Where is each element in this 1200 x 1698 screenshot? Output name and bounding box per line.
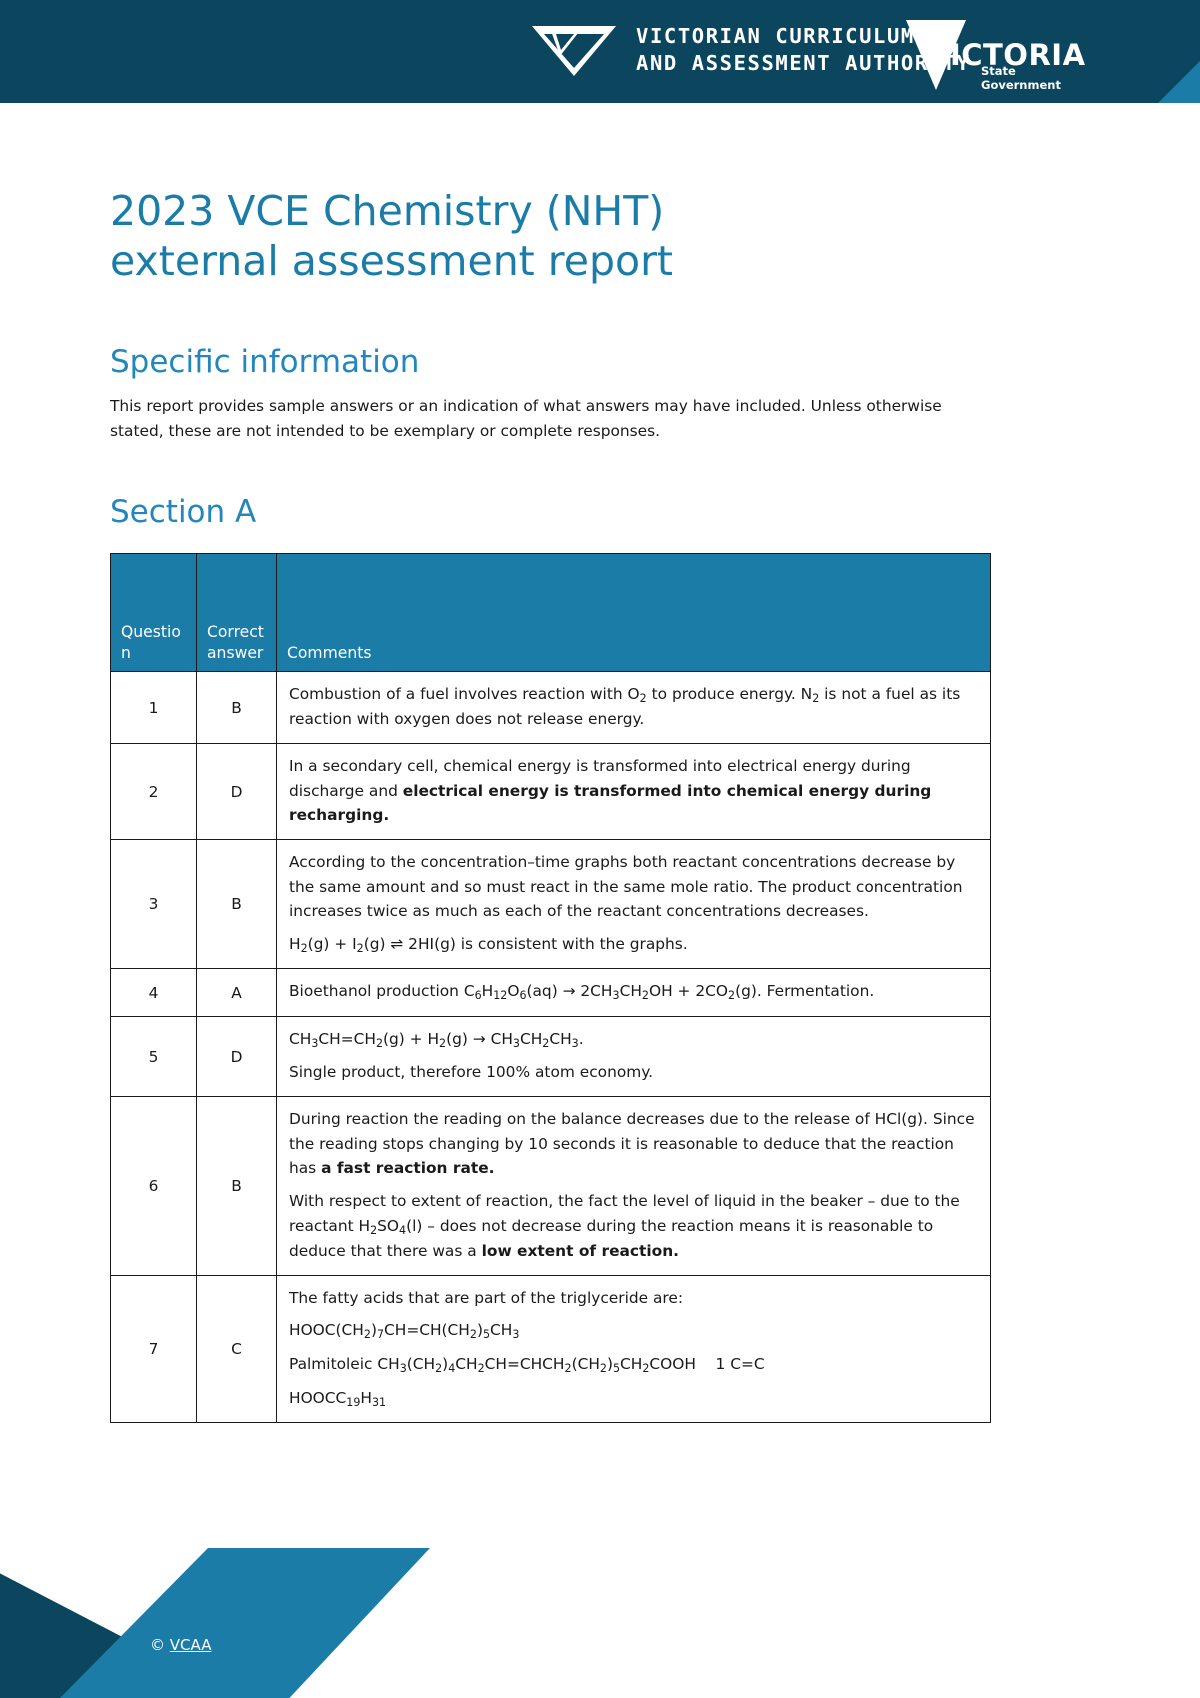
comment-paragraph: During reaction the reading on the balan…	[289, 1107, 978, 1181]
vcaa-chevron-icon	[530, 22, 618, 78]
comment-paragraph: Combustion of a fuel involves reaction w…	[289, 682, 978, 732]
table-row: 3BAccording to the concentration–time gr…	[111, 840, 991, 969]
cell-correct-answer: A	[197, 969, 277, 1017]
cell-comments: The fatty acids that are part of the tri…	[277, 1275, 991, 1422]
cell-comments: In a secondary cell, chemical energy is …	[277, 744, 991, 840]
state-government-line2: Government	[981, 78, 1061, 92]
cell-correct-answer: D	[197, 744, 277, 840]
comment-paragraph: Single product, therefore 100% atom econ…	[289, 1060, 978, 1085]
comment-paragraph: According to the concentration–time grap…	[289, 850, 978, 924]
footer-copyright: © VCAA	[150, 1636, 211, 1654]
page-title-line2: external assessment report	[110, 237, 673, 285]
page-footer: © VCAA	[0, 1520, 1200, 1698]
cell-correct-answer: C	[197, 1275, 277, 1422]
section-a-answers-table: Question Correct answer Comments 1BCombu…	[110, 553, 991, 1423]
cell-correct-answer: B	[197, 840, 277, 969]
table-body: 1BCombustion of a fuel involves reaction…	[111, 671, 991, 1422]
comment-paragraph: HOOC(CH2)7CH=CH(CH2)5CH3	[289, 1318, 978, 1344]
page-title-line1: 2023 VCE Chemistry (NHT)	[110, 187, 664, 235]
cell-question-number: 5	[111, 1016, 197, 1096]
copyright-symbol: ©	[150, 1636, 165, 1654]
cell-correct-answer: B	[197, 1097, 277, 1276]
column-header-correct-answer: Correct answer	[197, 553, 277, 671]
comment-paragraph: Bioethanol production C6H12O6(aq) → 2CH3…	[289, 979, 978, 1005]
column-header-correct-answer-label: Correct answer	[207, 622, 269, 664]
state-government-line1: State	[981, 64, 1061, 78]
table-row: 4ABioethanol production C6H12O6(aq) → 2C…	[111, 969, 991, 1017]
cell-comments: According to the concentration–time grap…	[277, 840, 991, 969]
comment-paragraph: H2(g) + I2(g) ⇌ 2HI(g) is consistent wit…	[289, 932, 978, 958]
vcaa-link[interactable]: VCAA	[170, 1636, 212, 1654]
page-header-band: VICTORIAN CURRICULUM AND ASSESSMENT AUTH…	[0, 0, 1200, 103]
table-row: 6BDuring reaction the reading on the bal…	[111, 1097, 991, 1276]
table-header: Question Correct answer Comments	[111, 553, 991, 671]
footer-dark-shape	[0, 1520, 300, 1698]
table-header-row: Question Correct answer Comments	[111, 553, 991, 671]
comment-paragraph: The fatty acids that are part of the tri…	[289, 1286, 978, 1311]
comment-paragraph: CH3CH=CH2(g) + H2(g) → CH3CH2CH3.	[289, 1027, 978, 1053]
section-a-heading: Section A	[110, 444, 1000, 530]
intro-paragraph: This report provides sample answers or a…	[110, 394, 1000, 444]
victoria-state-government-logo: VICTORIA State Government	[905, 16, 1065, 94]
table-row: 5DCH3CH=CH2(g) + H2(g) → CH3CH2CH3.Singl…	[111, 1016, 991, 1096]
document-page: 2023 VCE Chemistry (NHT) external assess…	[0, 103, 1200, 1423]
specific-information-heading: Specific information	[110, 286, 1000, 380]
comment-paragraph: With respect to extent of reaction, the …	[289, 1189, 978, 1264]
comment-paragraph: In a secondary cell, chemical energy is …	[289, 754, 978, 828]
column-header-comments: Comments	[277, 553, 991, 671]
cell-question-number: 1	[111, 671, 197, 743]
cell-comments: CH3CH=CH2(g) + H2(g) → CH3CH2CH3.Single …	[277, 1016, 991, 1096]
cell-comments: During reaction the reading on the balan…	[277, 1097, 991, 1276]
header-corner-accent	[1158, 61, 1200, 103]
cell-question-number: 6	[111, 1097, 197, 1276]
footer-blue-shape	[60, 1548, 430, 1698]
cell-question-number: 3	[111, 840, 197, 969]
cell-question-number: 7	[111, 1275, 197, 1422]
cell-question-number: 2	[111, 744, 197, 840]
column-header-question-label: Question	[121, 622, 187, 664]
cell-correct-answer: B	[197, 671, 277, 743]
comment-paragraph: HOOCC19H31	[289, 1386, 978, 1412]
comment-paragraph: Palmitoleic CH3(CH2)4CH2CH=CHCH2(CH2)5CH…	[289, 1352, 978, 1378]
column-header-question: Question	[111, 553, 197, 671]
state-government-wordmark: State Government	[981, 64, 1061, 92]
cell-correct-answer: D	[197, 1016, 277, 1096]
cell-comments: Combustion of a fuel involves reaction w…	[277, 671, 991, 743]
cell-question-number: 4	[111, 969, 197, 1017]
document-content: 2023 VCE Chemistry (NHT) external assess…	[110, 103, 1000, 1423]
page-title: 2023 VCE Chemistry (NHT) external assess…	[110, 103, 1000, 286]
table-row: 7CThe fatty acids that are part of the t…	[111, 1275, 991, 1422]
table-row: 1BCombustion of a fuel involves reaction…	[111, 671, 991, 743]
cell-comments: Bioethanol production C6H12O6(aq) → 2CH3…	[277, 969, 991, 1017]
table-row: 2DIn a secondary cell, chemical energy i…	[111, 744, 991, 840]
